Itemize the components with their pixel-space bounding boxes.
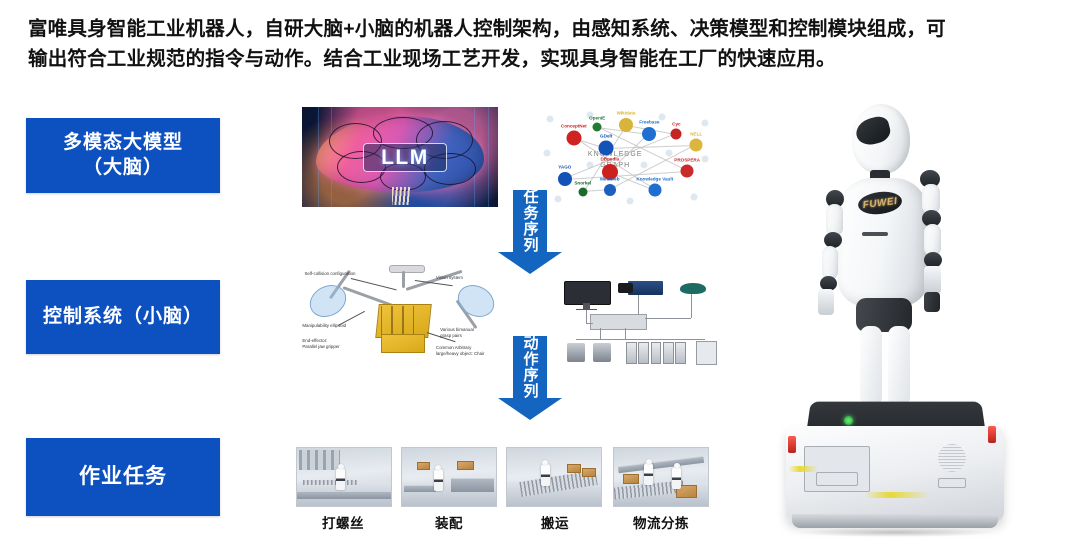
chair-slat <box>402 306 404 334</box>
arrow-shaft: 任务序列 <box>513 190 547 252</box>
arrow-shaft: 动作序列 <box>513 336 547 398</box>
servo-drive <box>675 342 686 364</box>
cable-bus <box>625 339 705 340</box>
knowledge-graph-image: KNOWLEDGE GRAPH ConceptNetOpenIEWikidata… <box>536 107 716 207</box>
servo-drive <box>638 342 649 364</box>
robot-leg-left <box>860 326 882 406</box>
knowledge-graph-dot <box>691 194 698 201</box>
annotation-self-collision: Self-collision configuration <box>304 271 355 277</box>
robot-hand-right <box>924 266 941 294</box>
knowledge-graph-node-label: GDelt <box>600 133 612 138</box>
cable <box>600 328 601 338</box>
agv-warning-strip-left <box>788 466 818 472</box>
humanoid-robot-on-agv: FUWEI <box>752 100 1072 550</box>
cable <box>638 295 639 315</box>
cable <box>586 310 587 325</box>
plc-controller <box>590 314 648 331</box>
layer-box-cerebellum-label: 控制系统（小脑） <box>43 305 203 329</box>
camera-lens <box>618 283 634 293</box>
knowledge-graph-node <box>558 172 572 186</box>
task-caption-screw: 打螺丝 <box>283 512 403 532</box>
brain-stem <box>392 187 410 205</box>
knowledge-graph-node-label: DBpedia <box>600 157 619 162</box>
robot-spine <box>402 271 405 288</box>
knowledge-graph-node-label: Snorkel <box>574 180 591 185</box>
servo-drive <box>651 342 662 364</box>
parcel-box <box>623 474 639 484</box>
knowledge-graph-node-label: Knowledge Vault <box>636 176 673 181</box>
agv-warning-strip-front <box>864 492 930 498</box>
humanoid-robot-figure <box>672 467 681 489</box>
task-caption-assembly: 装配 <box>389 512 509 532</box>
knowledge-graph-node <box>599 141 614 156</box>
agv-vent-slot <box>938 478 966 488</box>
conveyor-belt <box>297 491 391 499</box>
robot-leg-right <box>888 326 910 406</box>
annotation-end-effector: End-effector: Parallel jaw gripper <box>302 338 339 350</box>
knowledge-graph-node <box>681 165 694 178</box>
leader-line <box>351 278 396 290</box>
network-device <box>680 283 706 294</box>
knowledge-graph-dot <box>587 162 594 169</box>
knowledge-graph-node-label: YAGO <box>558 165 571 170</box>
layer-box-brain[interactable]: 多模态大模型 （大脑） <box>26 118 220 193</box>
task-photo-assembly <box>401 447 497 507</box>
workpiece-box <box>457 461 474 471</box>
knowledge-graph-node <box>578 188 587 197</box>
arrow-action-sequence: 动作序列 <box>498 336 562 420</box>
industrial-camera <box>628 281 663 296</box>
agv-status-led-green <box>844 416 853 425</box>
task-photo-sorting <box>613 447 709 507</box>
overhead-line <box>618 456 705 473</box>
chair-slat <box>381 306 383 334</box>
knowledge-graph-node-label: Wikidata <box>617 111 636 116</box>
knowledge-graph-dot <box>659 114 666 121</box>
vision-bar <box>389 265 425 273</box>
knowledge-graph-node <box>619 118 633 132</box>
task-photo-screw <box>296 447 392 507</box>
knowledge-graph-node <box>566 131 581 146</box>
circuit-line <box>488 107 489 207</box>
layer-box-task-label: 作业任务 <box>79 464 167 491</box>
annotation-ellipsoid: Manipulability ellipsoid <box>302 323 346 329</box>
manipulability-ellipsoid-right <box>452 279 500 323</box>
cable <box>645 318 690 319</box>
humanoid-robot-figure <box>336 468 345 490</box>
agv-fan-grille <box>938 444 966 472</box>
knowledge-graph-dot <box>543 150 550 157</box>
agv-ground-shadow <box>796 528 994 537</box>
llm-brain-image: LLM <box>302 107 498 207</box>
chair-slat <box>391 306 393 334</box>
knowledge-graph-node-label: PROSPERA <box>674 157 700 162</box>
agv-skirt <box>792 514 998 528</box>
arrow-task-sequence: 任务序列 <box>498 190 562 274</box>
llm-chip-text: LLM <box>381 146 429 170</box>
task-caption-transfer: 搬运 <box>495 512 615 532</box>
knowledge-graph-node <box>642 127 656 141</box>
knowledge-graph-dot <box>626 198 633 205</box>
robot-hand-left <box>818 289 834 315</box>
annotation-vision-system: Vision system <box>436 275 463 281</box>
task-caption-sorting: 物流分拣 <box>601 512 721 532</box>
terminal-panel <box>696 341 717 365</box>
servo-motor <box>567 343 584 362</box>
control-architecture-image <box>548 266 722 370</box>
shelf-rack <box>299 450 340 470</box>
workpiece-box <box>417 462 430 470</box>
knowledge-graph-node-label: ConceptNet <box>561 123 587 128</box>
chair-slat <box>413 306 415 334</box>
robot-chest-vent <box>862 232 888 236</box>
chair-seat <box>381 334 425 353</box>
annotation-object-chair: Common Arbitrary large/heavy object: Cha… <box>436 345 485 357</box>
humanoid-robot-figure <box>644 463 653 485</box>
knowledge-graph-node <box>604 184 616 196</box>
layer-box-task[interactable]: 作业任务 <box>26 438 220 516</box>
humanoid-robot-figure <box>541 464 550 486</box>
slide-canvas: 富唯具身智能工业机器人，自研大脑+小脑的机器人控制架构，由感知系统、决策模型和控… <box>0 0 1080 560</box>
workpiece-box <box>582 468 596 477</box>
servo-drive <box>663 342 674 364</box>
knowledge-graph-node <box>648 184 661 197</box>
humanoid-robot-figure <box>434 469 443 491</box>
knowledge-graph-dot <box>641 162 648 169</box>
cable <box>625 328 626 338</box>
agv-indicator-led-left <box>788 436 796 453</box>
headline-paragraph: 富唯具身智能工业机器人，自研大脑+小脑的机器人控制架构，由感知系统、决策模型和控… <box>28 14 1054 74</box>
arrow-head <box>498 252 562 274</box>
knowledge-graph-dot <box>547 116 554 123</box>
knowledge-graph-node-label: Freebase <box>639 120 659 125</box>
monitor-device <box>564 281 611 306</box>
layer-box-cerebellum[interactable]: 控制系统（小脑） <box>26 280 220 354</box>
assembly-bench <box>451 478 494 492</box>
knowledge-graph-node <box>593 123 602 132</box>
headline-line-1: 富唯具身智能工业机器人，自研大脑+小脑的机器人控制架构，由感知系统、决策模型和控… <box>28 14 1054 44</box>
roller-track <box>303 480 358 484</box>
arrow-action-sequence-label: 动作序列 <box>523 335 538 399</box>
knowledge-graph-dot <box>702 120 709 127</box>
cable <box>586 323 593 324</box>
cable <box>691 294 692 318</box>
assembly-bench <box>404 485 436 492</box>
knowledge-graph-dot <box>666 150 673 157</box>
layer-box-brain-line1: 多模态大模型 <box>63 132 183 153</box>
annotation-grasp-pairs: Various bimanual grasp pairs <box>440 327 474 339</box>
layer-box-brain-label: 多模态大模型 （大脑） <box>63 131 183 180</box>
workpiece-box <box>567 464 581 473</box>
robot-badge-text: FUWEI <box>862 195 898 210</box>
llm-chip-label: LLM <box>363 143 447 172</box>
robot-forearm-left <box>822 246 838 280</box>
knowledge-graph-node-label: OpenIE <box>589 115 605 120</box>
arrow-task-sequence-label: 任务序列 <box>523 189 538 253</box>
servo-motor <box>593 343 610 362</box>
knowledge-graph-dot <box>702 156 709 163</box>
layer-box-brain-line2: （大脑） <box>83 157 163 178</box>
headline-line-2: 输出符合工业规范的指令与动作。结合工业现场工艺开发，实现具身智能在工厂的快速应用… <box>28 44 1054 74</box>
knowledge-graph-node <box>690 139 703 152</box>
knowledge-graph-node-label: Cyc <box>672 121 680 126</box>
cable-bus <box>576 339 628 340</box>
arrow-head <box>498 398 562 420</box>
knowledge-graph-node-label: NELL <box>690 131 702 136</box>
knowledge-graph-edge <box>606 145 696 149</box>
manipulability-diagram-image: Self-collision configuration Vision syst… <box>296 256 508 364</box>
servo-drive <box>626 342 637 364</box>
agv-connector-bay <box>816 472 858 486</box>
task-photo-transfer <box>506 447 602 507</box>
knowledge-graph-node-label: Metaweb <box>600 177 619 182</box>
knowledge-graph-node <box>671 129 682 140</box>
robot-gripper-right <box>924 292 940 312</box>
agv-indicator-led-right <box>988 426 996 443</box>
